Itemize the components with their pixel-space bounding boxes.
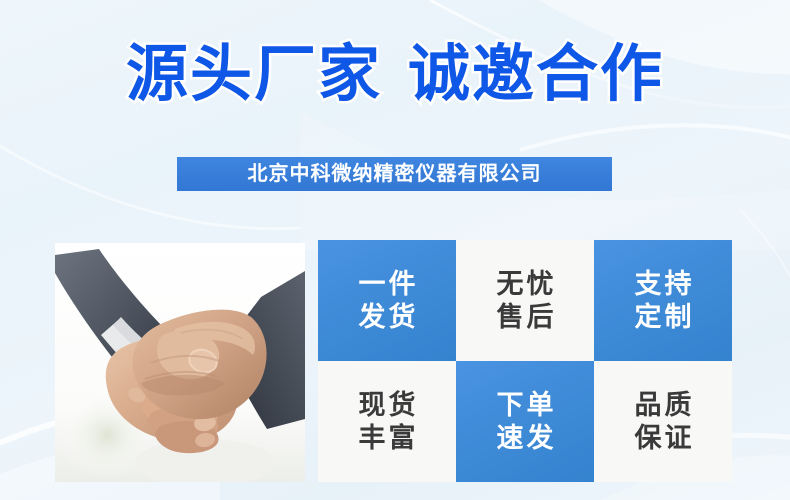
page-title: 源头厂家诚邀合作 [126,44,664,106]
feature-tile-1-line1: 无忧 [494,268,557,301]
company-name-banner: 北京中科微纳精密仪器有限公司 [177,157,612,191]
handshake-photo [55,243,305,482]
feature-tile-0-line2: 发货 [356,301,419,334]
feature-tile-2[interactable]: 支持 定制 [594,240,732,361]
feature-tile-3[interactable]: 现货 丰富 [318,361,456,482]
company-name-text: 北京中科微纳精密仪器有限公司 [248,164,542,184]
feature-tile-1[interactable]: 无忧 售后 [456,240,594,361]
feature-tile-4-line2: 速发 [494,422,557,455]
feature-grid: 一件 发货 无忧 售后 支持 定制 现货 丰富 下单 速发 品质 保证 [318,240,732,482]
feature-tile-4[interactable]: 下单 速发 [456,361,594,482]
feature-tile-2-line2: 定制 [632,301,695,334]
feature-tile-5[interactable]: 品质 保证 [594,361,732,482]
feature-tile-2-line1: 支持 [632,268,695,301]
feature-tile-4-line1: 下单 [494,389,557,422]
feature-tile-5-line1: 品质 [632,389,695,422]
headline-part-2: 诚邀合作 [408,40,664,109]
feature-tile-3-line1: 现货 [356,389,419,422]
headline-container: 源头厂家诚邀合作 [0,44,790,106]
feature-tile-0-line1: 一件 [356,268,419,301]
feature-tile-0[interactable]: 一件 发货 [318,240,456,361]
promo-poster: 源头厂家诚邀合作 北京中科微纳精密仪器有限公司 [0,0,790,500]
feature-tile-3-line2: 丰富 [356,422,419,455]
headline-part-1: 源头厂家 [126,40,382,109]
feature-tile-5-line2: 保证 [632,422,695,455]
feature-tile-1-line2: 售后 [494,301,557,334]
